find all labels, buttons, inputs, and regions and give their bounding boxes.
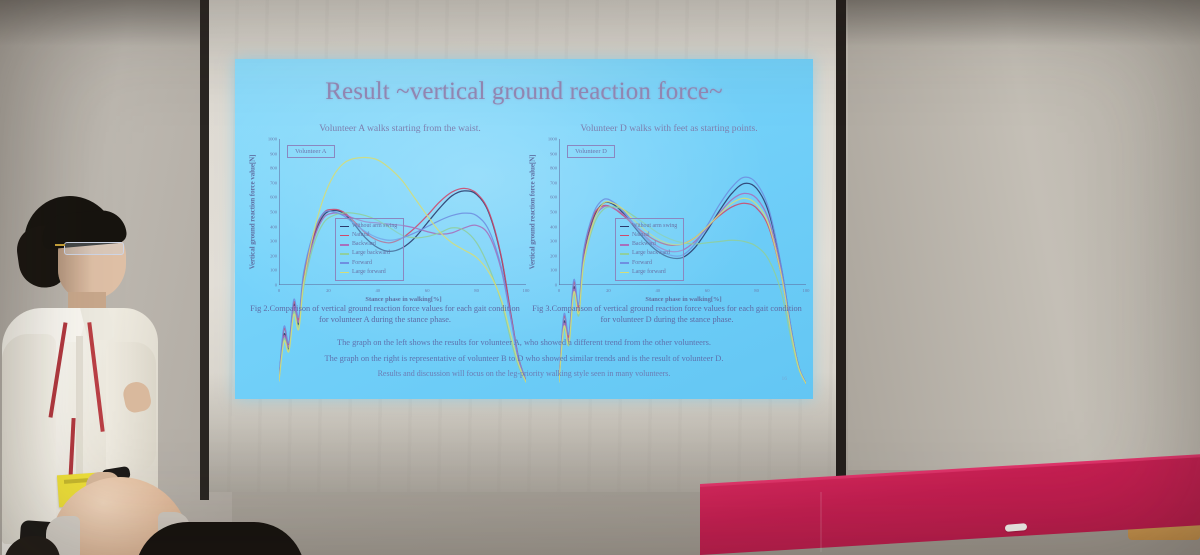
legend-swatch-icon bbox=[340, 262, 349, 264]
legend-swatch-icon bbox=[620, 262, 629, 264]
chart-fig2: Vertical ground reaction force value[N] … bbox=[243, 139, 528, 289]
legend-item: Backward bbox=[620, 240, 677, 249]
legend-item: Large forward bbox=[620, 268, 677, 277]
y-tick-label: 600 bbox=[550, 195, 557, 200]
volunteer-label-fig2: Volunteer A bbox=[287, 145, 335, 158]
y-tick-label: 0 bbox=[275, 283, 277, 288]
y-tick-label: 300 bbox=[550, 239, 557, 244]
y-tick-label: 900 bbox=[550, 151, 557, 156]
y-tick-label: 500 bbox=[270, 210, 277, 215]
legend-label: Large backward bbox=[632, 249, 670, 258]
y-tick-label: 500 bbox=[550, 210, 557, 215]
legend-swatch-icon bbox=[620, 253, 629, 255]
projected-slide: Result ~vertical ground reaction force~ … bbox=[235, 59, 813, 399]
y-tick-label: 700 bbox=[270, 180, 277, 185]
legend-swatch-icon bbox=[620, 235, 629, 237]
x-tick-label: 20 bbox=[326, 288, 331, 293]
legend-item: Natural bbox=[340, 231, 397, 240]
x-tick-label: 100 bbox=[803, 288, 810, 293]
y-tick-label: 200 bbox=[270, 253, 277, 258]
x-tick-label: 40 bbox=[376, 288, 381, 293]
y-tick-label: 700 bbox=[550, 180, 557, 185]
y-tick-label: 100 bbox=[270, 268, 277, 273]
y-tick-label: 100 bbox=[550, 268, 557, 273]
legend-swatch-icon bbox=[620, 244, 629, 246]
legend-swatch-icon bbox=[340, 244, 349, 246]
legend-swatch-icon bbox=[340, 253, 349, 255]
legend-label: Backward bbox=[632, 240, 656, 249]
legend-fig3: Without arm swingNaturalBackwardLarge ba… bbox=[615, 218, 684, 281]
y-tick-label: 900 bbox=[270, 151, 277, 156]
y-axis-label-text: Vertical ground reaction force value[N] bbox=[528, 155, 536, 270]
y-axis-label-text: Vertical ground reaction force value[N] bbox=[248, 155, 256, 270]
legend-label: Natural bbox=[352, 231, 370, 240]
presenter-arm-left bbox=[2, 334, 56, 544]
x-tick-label: 20 bbox=[606, 288, 611, 293]
x-tick-label: 80 bbox=[474, 288, 479, 293]
legend-swatch-icon bbox=[340, 272, 349, 274]
subhead-right: Volunteer D walks with feet as starting … bbox=[531, 123, 807, 134]
slide-page-number: 16 bbox=[782, 376, 788, 382]
y-axis-ticks-fig3: 01002003004005006007008009001000 bbox=[537, 136, 557, 288]
y-tick-label: 1000 bbox=[548, 137, 557, 142]
legend-label: Large forward bbox=[632, 268, 666, 277]
plot-area-fig2: Volunteer A Without arm swingNaturalBack… bbox=[279, 139, 526, 285]
y-tick-label: 1000 bbox=[268, 137, 277, 142]
legend-label: Forward bbox=[632, 259, 652, 268]
body-line-1: The graph on the left shows the results … bbox=[249, 335, 799, 351]
y-tick-label: 400 bbox=[270, 224, 277, 229]
y-tick-label: 0 bbox=[555, 283, 557, 288]
legend-label: Large forward bbox=[352, 268, 386, 277]
figure-caption-left: Fig 2.Comparison of vertical ground reac… bbox=[245, 303, 525, 325]
x-tick-label: 0 bbox=[558, 288, 560, 293]
y-axis-ticks-fig2: 01002003004005006007008009001000 bbox=[257, 136, 277, 288]
legend-label: Large backward bbox=[352, 249, 390, 258]
y-tick-label: 600 bbox=[270, 195, 277, 200]
legend-item: Forward bbox=[620, 259, 677, 268]
chart-fig3: Vertical ground reaction force value[N] … bbox=[523, 139, 808, 289]
y-tick-label: 800 bbox=[270, 166, 277, 171]
x-axis-label-fig2: Stance phase in walking[%] bbox=[279, 296, 528, 303]
plot-area-fig3: Volunteer D Without arm swingNaturalBack… bbox=[559, 139, 806, 285]
x-axis-label-fig3: Stance phase in walking[%] bbox=[559, 296, 808, 303]
slide-title: Result ~vertical ground reaction force~ bbox=[235, 78, 813, 106]
room-wall-right bbox=[848, 0, 1200, 470]
legend-label: Without arm swing bbox=[632, 222, 677, 231]
y-tick-label: 800 bbox=[550, 166, 557, 171]
body-line-2: The graph on the right is representative… bbox=[249, 351, 799, 367]
legend-label: Backward bbox=[352, 240, 376, 249]
legend-swatch-icon bbox=[620, 226, 629, 228]
screen-rail-left bbox=[200, 0, 209, 500]
legend-item: Large forward bbox=[340, 268, 397, 277]
body-line-3: Results and discussion will focus on the… bbox=[249, 366, 799, 382]
legend-item: Forward bbox=[340, 259, 397, 268]
y-tick-label: 300 bbox=[270, 239, 277, 244]
x-tick-label: 60 bbox=[425, 288, 430, 293]
legend-swatch-icon bbox=[620, 272, 629, 274]
legend-item: Backward bbox=[340, 240, 397, 249]
table-cloth-fold bbox=[820, 492, 822, 552]
screen-rail-right bbox=[836, 0, 846, 486]
scene-photograph: Result ~vertical ground reaction force~ … bbox=[0, 0, 1200, 555]
slide-body-text: The graph on the left shows the results … bbox=[249, 335, 799, 382]
figure-caption-right: Fig 3.Comparison of vertical ground reac… bbox=[527, 303, 807, 325]
x-tick-label: 60 bbox=[705, 288, 710, 293]
volunteer-label-fig3: Volunteer D bbox=[567, 145, 615, 158]
legend-label: Forward bbox=[352, 259, 372, 268]
legend-item: Without arm swing bbox=[340, 222, 397, 231]
legend-label: Natural bbox=[632, 231, 650, 240]
legend-item: Large backward bbox=[620, 249, 677, 258]
x-tick-label: 40 bbox=[656, 288, 661, 293]
x-tick-label: 80 bbox=[754, 288, 759, 293]
subhead-left: Volunteer A walks starting from the wais… bbox=[265, 123, 535, 134]
legend-item: Natural bbox=[620, 231, 677, 240]
legend-label: Without arm swing bbox=[352, 222, 397, 231]
y-tick-label: 200 bbox=[550, 253, 557, 258]
x-tick-label: 0 bbox=[278, 288, 280, 293]
legend-swatch-icon bbox=[340, 226, 349, 228]
legend-fig2: Without arm swingNaturalBackwardLarge ba… bbox=[335, 218, 404, 281]
legend-item: Without arm swing bbox=[620, 222, 677, 231]
y-tick-label: 400 bbox=[550, 224, 557, 229]
glasses-icon bbox=[64, 242, 124, 255]
legend-swatch-icon bbox=[340, 235, 349, 237]
legend-item: Large backward bbox=[340, 249, 397, 258]
